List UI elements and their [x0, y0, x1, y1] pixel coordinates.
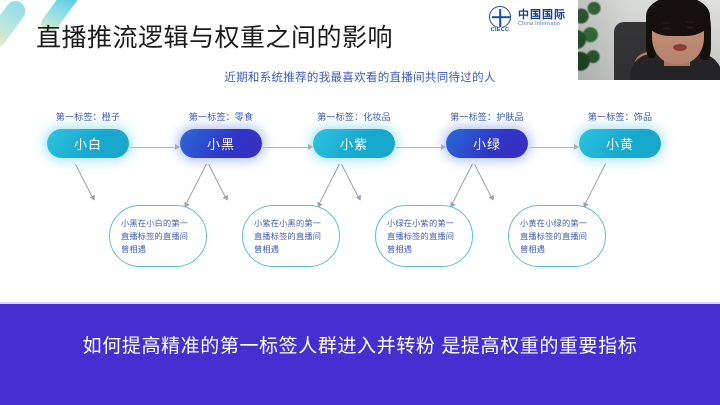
flow-bubble-text: 小绿在小紫的第一直播标签的直播间曾相遇 — [387, 217, 461, 256]
flow-link-arrow — [474, 164, 493, 200]
flow-arrow-4-5 — [529, 142, 579, 152]
logo-abbr: CIECC — [487, 27, 513, 33]
slide-canvas: 直播推流逻辑与权重之间的影响 近期和系统推荐的我最喜欢看的直播间共同待过的人 C… — [0, 0, 720, 405]
flow-diagram: 第一标签：橙子 小白 第一标签：零食 小黑 第一标签：化妆品 小紫 第一标签：护… — [0, 110, 720, 285]
flow-arrow-1-2 — [130, 142, 180, 152]
node-tag-label: 第一标签：橙子 — [24, 110, 152, 123]
flow-bubble: 小绿在小紫的第一直播标签的直播间曾相遇 — [375, 205, 473, 267]
flow-bubble-text: 小黑在小白的第一直播标签的直播间曾相遇 — [121, 217, 195, 256]
flow-bubble: 小黑在小白的第一直播标签的直播间曾相遇 — [109, 205, 207, 267]
node-tag-label: 第一标签：饰品 — [556, 110, 684, 123]
flow-link-arrow — [341, 164, 360, 200]
flow-arrow-3-4 — [396, 142, 446, 152]
banner-top-divider — [0, 302, 720, 304]
flow-link-arrow — [317, 164, 340, 207]
flow-bubble-text: 小紫在小黑的第一直播标签的直播间曾相遇 — [254, 217, 328, 256]
decorative-capsule-left — [0, 0, 29, 51]
flow-link-arrow — [184, 164, 207, 207]
flow-node[interactable]: 小黑 — [180, 129, 262, 158]
flow-link-arrow — [208, 164, 227, 200]
banner-text: 如何提高精准的第一标签人群进入并转粉 是提高权重的重要指标 — [0, 334, 720, 360]
node-tag-label: 第一标签：护肤品 — [423, 110, 551, 123]
page-title: 直播推流逻辑与权重之间的影响 — [36, 22, 393, 54]
flow-bubble: 小紫在小黑的第一直播标签的直播间曾相遇 — [242, 205, 340, 267]
logo-mark-icon: CIECC — [487, 6, 513, 32]
flow-node[interactable]: 小黄 — [579, 129, 661, 158]
flow-node[interactable]: 小白 — [47, 129, 129, 158]
ciecc-logo: CIECC 中国国际 China Internatio — [487, 6, 566, 32]
flow-bubble-text: 小黄在小绿的第一直播标签的直播间曾相遇 — [520, 217, 594, 256]
webcam-vignette — [578, 0, 720, 80]
flow-arrow-2-3 — [263, 142, 313, 152]
flow-link-arrow — [75, 164, 94, 200]
flow-bubble: 小黄在小绿的第一直播标签的直播间曾相遇 — [508, 205, 606, 267]
flow-node[interactable]: 小紫 — [313, 129, 395, 158]
node-tag-label: 第一标签：零食 — [157, 110, 285, 123]
node-tag-label: 第一标签：化妆品 — [290, 110, 418, 123]
bottom-banner: 如何提高精准的第一标签人群进入并转粉 是提高权重的重要指标 — [0, 302, 720, 405]
logo-name-en: China Internatio — [518, 22, 566, 28]
flow-link-arrow — [583, 164, 606, 207]
flow-link-arrow — [450, 164, 473, 207]
flow-node[interactable]: 小绿 — [446, 129, 528, 158]
webcam-overlay[interactable] — [578, 0, 720, 80]
